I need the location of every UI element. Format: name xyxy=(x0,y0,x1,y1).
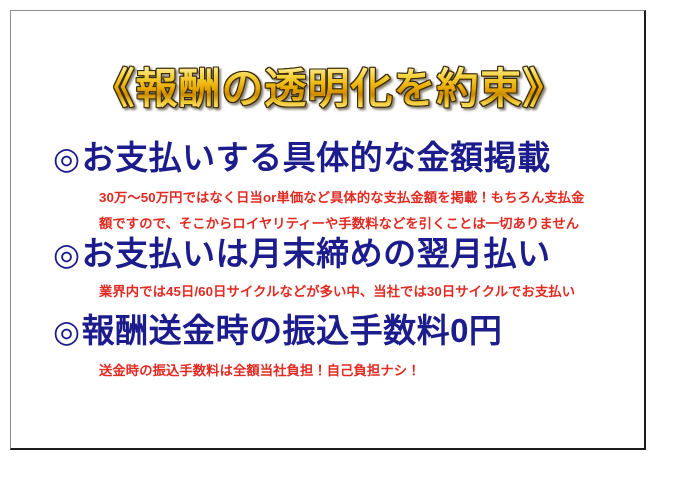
slide-frame-border: 《報酬の透明化を約束》 ◎お支払いする具体的な金額掲載 30万〜50万円ではなく… xyxy=(10,10,646,450)
bullet-double-circle-icon: ◎ xyxy=(53,237,82,272)
section-heading-1: ◎お支払いする具体的な金額掲載 xyxy=(53,139,633,178)
section-heading-3: ◎報酬送金時の振込手数料0円 xyxy=(53,312,633,351)
section-body-3: 送金時の振込手数料は全額当社負担！自己負担ナシ！ xyxy=(99,358,639,384)
section-heading-2-text: お支払いは月末締めの翌月払い xyxy=(82,235,551,272)
section-heading-1-text: お支払いする具体的な金額掲載 xyxy=(82,139,551,176)
section-body-1: 30万〜50万円ではなく日当or単価など具体的な支払金額を掲載！もちろん支払金 … xyxy=(99,185,639,237)
bullet-double-circle-icon: ◎ xyxy=(53,314,82,349)
section-heading-3-text: 報酬送金時の振込手数料0円 xyxy=(82,312,503,349)
bullet-double-circle-icon: ◎ xyxy=(53,141,82,176)
section-body-1-line-2: 額ですので、そこからロイヤリティーや手数料などを引くことは一切ありません xyxy=(99,211,639,237)
slide-title: 《報酬の透明化を約束》 xyxy=(11,66,647,112)
slide-canvas: 《報酬の透明化を約束》 ◎お支払いする具体的な金額掲載 30万〜50万円ではなく… xyxy=(0,0,680,478)
section-body-2-line-1: 業界内では45日/60日サイクルなどが多い中、当社では30日サイクルでお支払い xyxy=(99,279,639,305)
slide-content: 《報酬の透明化を約束》 ◎お支払いする具体的な金額掲載 30万〜50万円ではなく… xyxy=(11,11,647,451)
section-body-1-line-1: 30万〜50万円ではなく日当or単価など具体的な支払金額を掲載！もちろん支払金 xyxy=(99,185,639,211)
section-body-3-line-1: 送金時の振込手数料は全額当社負担！自己負担ナシ！ xyxy=(99,358,639,384)
section-heading-2: ◎お支払いは月末締めの翌月払い xyxy=(53,235,633,274)
section-body-2: 業界内では45日/60日サイクルなどが多い中、当社では30日サイクルでお支払い xyxy=(99,279,639,305)
